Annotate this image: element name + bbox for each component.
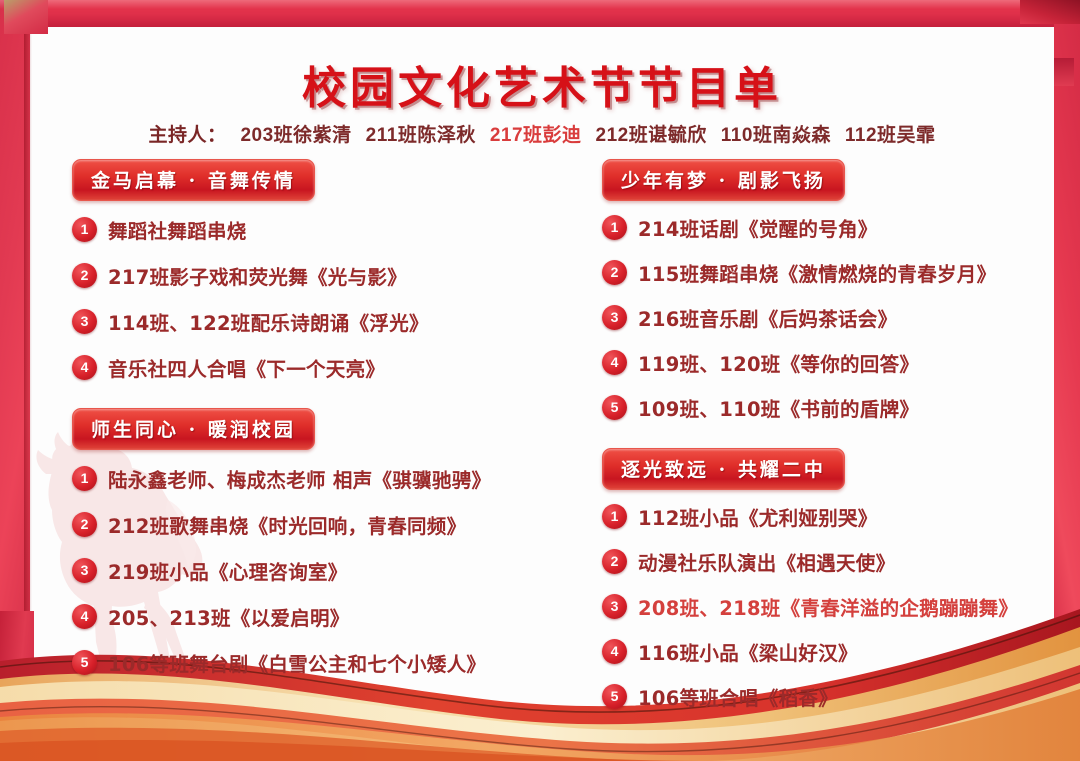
item-text: 106等班合唱《稻香》 <box>638 682 838 711</box>
host-name-4: 212班谌毓欣 <box>596 125 707 146</box>
item-number-badge: 2 <box>72 263 97 288</box>
list-item: 1214班话剧《觉醒的号角》 <box>602 213 1054 242</box>
list-item: 3208班、218班《青春洋溢的企鹅蹦蹦舞》 <box>602 592 1054 621</box>
program-poster: 校园文化艺术节节目单 主持人：203班徐紫清211班陈泽秋217班彭迪212班谌… <box>0 0 1080 761</box>
host-name-5: 110班南焱森 <box>721 125 831 146</box>
program-column-right: 少年有梦 · 剧影飞扬1214班话剧《觉醒的号角》2115班舞蹈串烧《激情燃烧的… <box>560 159 1054 727</box>
item-number-badge: 1 <box>602 504 627 529</box>
frame-right-notch <box>1054 58 1074 86</box>
list-item: 5106等班舞台剧《白雪公主和七个小矮人》 <box>72 648 560 677</box>
program-section-3: 少年有梦 · 剧影飞扬1214班话剧《觉醒的号角》2115班舞蹈串烧《激情燃烧的… <box>602 159 1054 422</box>
section-header-1: 金马启幕 · 音舞传情 <box>72 159 315 201</box>
list-item: 2115班舞蹈串烧《激情燃烧的青春岁月》 <box>602 258 1054 287</box>
frame-top-right-fold <box>1020 0 1080 24</box>
item-number-badge: 3 <box>602 305 627 330</box>
item-number-badge: 4 <box>602 639 627 664</box>
hosts-label: 主持人： <box>148 125 226 146</box>
item-number-badge: 1 <box>72 466 97 491</box>
section-header-3: 少年有梦 · 剧影飞扬 <box>602 159 845 201</box>
list-item: 4205、213班《以爱启明》 <box>72 602 560 631</box>
list-item: 4119班、120班《等你的回答》 <box>602 348 1054 377</box>
list-item: 4音乐社四人合唱《下一个天亮》 <box>72 353 560 382</box>
host-name-1: 203班徐紫清 <box>240 125 351 146</box>
item-text: 116班小品《梁山好汉》 <box>638 637 858 666</box>
item-text: 112班小品《尤利娅别哭》 <box>638 502 878 531</box>
section-header-2: 师生同心 · 暖润校园 <box>72 408 315 450</box>
list-item: 5106等班合唱《稻香》 <box>602 682 1054 711</box>
program-list: 1112班小品《尤利娅别哭》2动漫社乐队演出《相遇天使》3208班、218班《青… <box>602 502 1054 711</box>
item-text: 208班、218班《青春洋溢的企鹅蹦蹦舞》 <box>638 592 1018 621</box>
program-list: 1陆永鑫老师、梅成杰老师 相声《骐骥驰骋》2212班歌舞串烧《时光回响，青春同频… <box>72 464 560 677</box>
item-text: 109班、110班《书前的盾牌》 <box>638 393 919 422</box>
program-list: 1214班话剧《觉醒的号角》2115班舞蹈串烧《激情燃烧的青春岁月》3216班音… <box>602 213 1054 422</box>
section-header-4: 逐光致远 · 共耀二中 <box>602 448 845 490</box>
program-column-left: 金马启幕 · 音舞传情1舞蹈社舞蹈串烧2217班影子戏和荧光舞《光与影》3114… <box>30 159 560 727</box>
item-text: 214班话剧《觉醒的号角》 <box>638 213 878 242</box>
item-number-badge: 5 <box>72 650 97 675</box>
item-number-badge: 4 <box>72 355 97 380</box>
item-text: 音乐社四人合唱《下一个天亮》 <box>108 353 385 382</box>
item-text: 217班影子戏和荧光舞《光与影》 <box>108 261 407 290</box>
item-number-badge: 3 <box>602 594 627 619</box>
program-columns: 金马启幕 · 音舞传情1舞蹈社舞蹈串烧2217班影子戏和荧光舞《光与影》3114… <box>30 159 1054 727</box>
item-number-badge: 4 <box>72 604 97 629</box>
list-item: 3219班小品《心理咨询室》 <box>72 556 560 585</box>
item-number-badge: 2 <box>602 260 627 285</box>
list-item: 5109班、110班《书前的盾牌》 <box>602 393 1054 422</box>
item-text: 陆永鑫老师、梅成杰老师 相声《骐骥驰骋》 <box>108 464 491 493</box>
hosts-line: 主持人：203班徐紫清211班陈泽秋217班彭迪212班谌毓欣110班南焱森11… <box>30 120 1054 147</box>
item-number-badge: 3 <box>72 558 97 583</box>
poster-content: 校园文化艺术节节目单 主持人：203班徐紫清211班陈泽秋217班彭迪212班谌… <box>30 27 1054 747</box>
list-item: 2212班歌舞串烧《时光回响，青春同频》 <box>72 510 560 539</box>
list-item: 4116班小品《梁山好汉》 <box>602 637 1054 666</box>
list-item: 1112班小品《尤利娅别哭》 <box>602 502 1054 531</box>
item-text: 舞蹈社舞蹈串烧 <box>108 215 247 244</box>
item-number-badge: 1 <box>602 215 627 240</box>
item-text: 216班音乐剧《后妈茶话会》 <box>638 303 897 332</box>
list-item: 1舞蹈社舞蹈串烧 <box>72 215 560 244</box>
item-number-badge: 4 <box>602 350 627 375</box>
item-text: 114班、122班配乐诗朗诵《浮光》 <box>108 307 429 336</box>
item-text: 动漫社乐队演出《相遇天使》 <box>638 547 895 576</box>
item-number-badge: 5 <box>602 395 627 420</box>
item-text: 212班歌舞串烧《时光回响，青春同频》 <box>108 510 466 539</box>
item-number-badge: 1 <box>72 217 97 242</box>
item-text: 219班小品《心理咨询室》 <box>108 556 348 585</box>
frame-top-highlight <box>0 0 1080 9</box>
list-item: 3114班、122班配乐诗朗诵《浮光》 <box>72 307 560 336</box>
item-number-badge: 3 <box>72 309 97 334</box>
item-number-badge: 2 <box>72 512 97 537</box>
item-text: 115班舞蹈串烧《激情燃烧的青春岁月》 <box>638 258 996 287</box>
list-item: 2217班影子戏和荧光舞《光与影》 <box>72 261 560 290</box>
hosts-list: 203班徐紫清211班陈泽秋217班彭迪212班谌毓欣110班南焱森112班吴霏 <box>226 125 935 146</box>
item-text: 119班、120班《等你的回答》 <box>638 348 919 377</box>
program-section-1: 金马启幕 · 音舞传情1舞蹈社舞蹈串烧2217班影子戏和荧光舞《光与影》3114… <box>72 159 560 382</box>
list-item: 3216班音乐剧《后妈茶话会》 <box>602 303 1054 332</box>
list-item: 2动漫社乐队演出《相遇天使》 <box>602 547 1054 576</box>
page-title: 校园文化艺术节节目单 <box>30 52 1054 116</box>
frame-bottom-left-block <box>0 611 34 761</box>
program-list: 1舞蹈社舞蹈串烧2217班影子戏和荧光舞《光与影》3114班、122班配乐诗朗诵… <box>72 215 560 382</box>
program-section-4: 逐光致远 · 共耀二中1112班小品《尤利娅别哭》2动漫社乐队演出《相遇天使》3… <box>602 448 1054 711</box>
host-name-2: 211班陈泽秋 <box>366 125 476 146</box>
host-name-6: 112班吴霏 <box>845 125 936 146</box>
item-number-badge: 2 <box>602 549 627 574</box>
item-text: 106等班舞台剧《白雪公主和七个小矮人》 <box>108 648 486 677</box>
program-section-2: 师生同心 · 暖润校园1陆永鑫老师、梅成杰老师 相声《骐骥驰骋》2212班歌舞串… <box>72 408 560 677</box>
frame-right-border <box>1054 0 1080 761</box>
host-name-3: 217班彭迪 <box>490 125 582 146</box>
list-item: 1陆永鑫老师、梅成杰老师 相声《骐骥驰骋》 <box>72 464 560 493</box>
item-text: 205、213班《以爱启明》 <box>108 602 350 631</box>
item-number-badge: 5 <box>602 684 627 709</box>
